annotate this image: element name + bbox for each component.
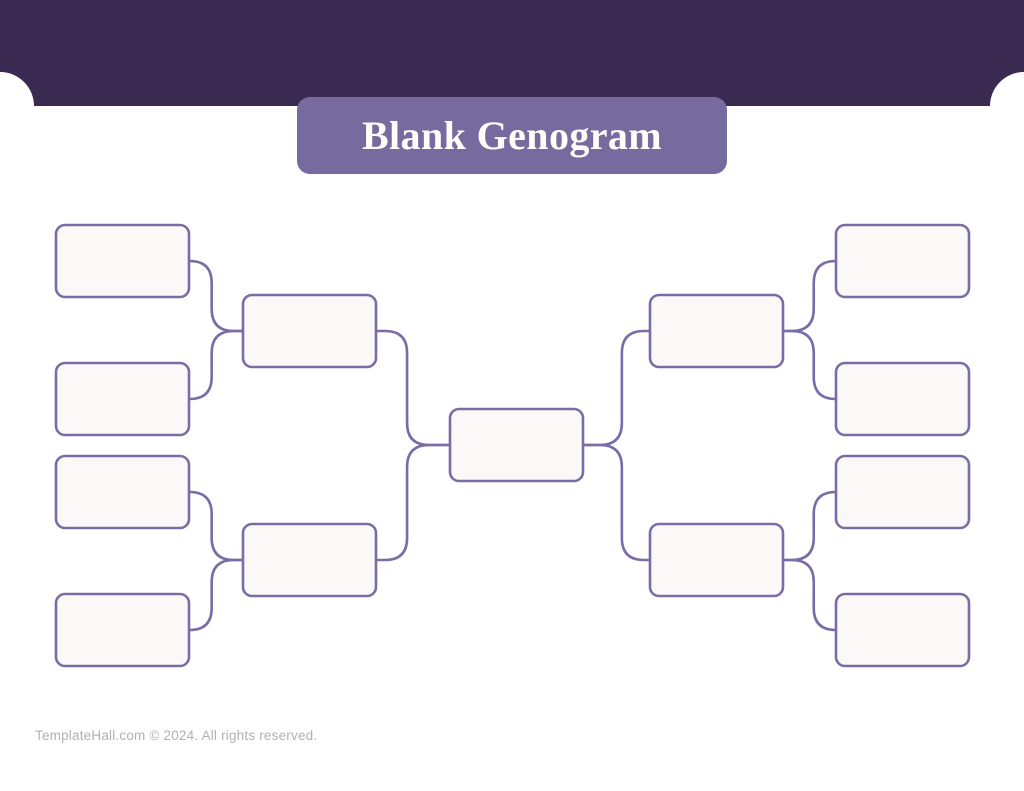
genogram-connector bbox=[376, 331, 450, 445]
genogram-node-box[interactable] bbox=[450, 409, 583, 481]
genogram-connector bbox=[583, 445, 650, 560]
genogram-connector bbox=[189, 331, 243, 399]
genogram-connector bbox=[189, 492, 243, 560]
genogram-node-box[interactable] bbox=[56, 456, 189, 528]
genogram-node-box[interactable] bbox=[56, 225, 189, 297]
genogram-node[interactable] bbox=[243, 524, 376, 596]
genogram-node-box[interactable] bbox=[836, 363, 969, 435]
genogram-node[interactable] bbox=[56, 225, 189, 297]
genogram-diagram bbox=[0, 195, 1024, 685]
title-banner: Blank Genogram bbox=[297, 97, 727, 174]
genogram-node-box[interactable] bbox=[836, 456, 969, 528]
genogram-node[interactable] bbox=[243, 295, 376, 367]
genogram-node-box[interactable] bbox=[650, 295, 783, 367]
genogram-connector bbox=[189, 560, 243, 630]
genogram-node[interactable] bbox=[650, 295, 783, 367]
genogram-node[interactable] bbox=[450, 409, 583, 481]
genogram-node-box[interactable] bbox=[243, 524, 376, 596]
genogram-node[interactable] bbox=[836, 594, 969, 666]
genogram-connector bbox=[783, 492, 836, 560]
genogram-connector bbox=[189, 261, 243, 331]
footer-copyright: TemplateHall.com © 2024. All rights rese… bbox=[35, 728, 317, 743]
genogram-connector bbox=[783, 261, 836, 331]
genogram-node[interactable] bbox=[836, 456, 969, 528]
genogram-node[interactable] bbox=[56, 594, 189, 666]
genogram-node-box[interactable] bbox=[836, 225, 969, 297]
genogram-node-box[interactable] bbox=[836, 594, 969, 666]
genogram-node-box[interactable] bbox=[56, 363, 189, 435]
genogram-connector bbox=[783, 560, 836, 630]
genogram-connector bbox=[583, 331, 650, 445]
genogram-node[interactable] bbox=[836, 225, 969, 297]
genogram-node[interactable] bbox=[56, 363, 189, 435]
page-header-band bbox=[0, 0, 1024, 106]
header-band-path bbox=[0, 0, 1024, 106]
genogram-node-box[interactable] bbox=[243, 295, 376, 367]
genogram-node-box[interactable] bbox=[650, 524, 783, 596]
node-layer bbox=[56, 225, 969, 666]
genogram-node[interactable] bbox=[650, 524, 783, 596]
page-title: Blank Genogram bbox=[297, 97, 727, 174]
genogram-connector bbox=[376, 445, 450, 560]
genogram-canvas bbox=[0, 195, 1024, 685]
genogram-node-box[interactable] bbox=[56, 594, 189, 666]
genogram-connector bbox=[783, 331, 836, 399]
genogram-node[interactable] bbox=[56, 456, 189, 528]
genogram-node[interactable] bbox=[836, 363, 969, 435]
